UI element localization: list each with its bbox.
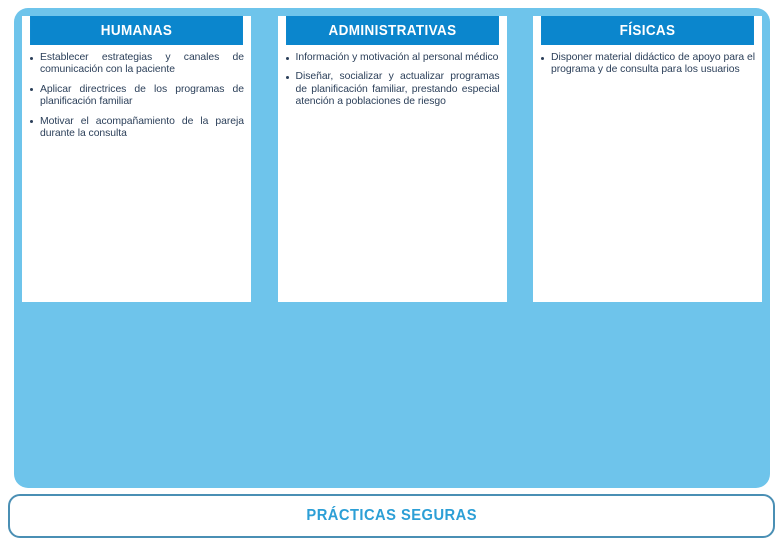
category-header-fisicas: FÍSICAS — [541, 16, 754, 45]
bullet-dot-icon — [30, 120, 33, 123]
bullet-list-humanas: Establecer estrategias y canales de comu… — [29, 52, 244, 140]
bullet-dot-icon — [30, 88, 33, 91]
category-card-administrativas: ADMINISTRATIVAS Información y motivación… — [278, 16, 507, 302]
footer-banner: PRÁCTICAS SEGURAS — [8, 494, 775, 538]
list-item: Información y motivación al personal méd… — [285, 52, 500, 64]
bullet-dot-icon — [286, 76, 289, 79]
list-item-text: Motivar el acompañamiento de la pareja d… — [40, 116, 244, 139]
list-item-text: Información y motivación al personal méd… — [296, 52, 499, 63]
bullet-list-fisicas: Disponer material didáctico de apoyo par… — [540, 52, 755, 77]
list-item-text: Disponer material didáctico de apoyo par… — [551, 52, 755, 75]
list-item: Disponer material didáctico de apoyo par… — [540, 52, 755, 77]
list-item: Establecer estrategias y canales de comu… — [29, 52, 244, 77]
category-card-humanas: HUMANAS Establecer estrategias y canales… — [22, 16, 251, 302]
footer-label: PRÁCTICAS SEGURAS — [306, 507, 477, 525]
list-item: Aplicar directrices de los programas de … — [29, 84, 244, 109]
bullet-list-administrativas: Información y motivación al personal méd… — [285, 52, 500, 109]
category-header-humanas: HUMANAS — [30, 16, 243, 45]
list-item-text: Diseñar, socializar y actualizar program… — [296, 71, 500, 107]
bullet-dot-icon — [286, 57, 289, 60]
bullet-dot-icon — [541, 57, 544, 60]
bullet-dot-icon — [30, 57, 33, 60]
list-item: Diseñar, socializar y actualizar program… — [285, 71, 500, 108]
list-item-text: Aplicar directrices de los programas de … — [40, 84, 244, 107]
category-card-fisicas: FÍSICAS Disponer material didáctico de a… — [533, 16, 762, 302]
category-body-administrativas: Información y motivación al personal méd… — [278, 45, 507, 302]
category-header-administrativas: ADMINISTRATIVAS — [286, 16, 499, 45]
list-item-text: Establecer estrategias y canales de comu… — [40, 52, 244, 75]
list-item: Motivar el acompañamiento de la pareja d… — [29, 116, 244, 141]
diagram-root: HUMANAS Establecer estrategias y canales… — [0, 0, 783, 542]
category-body-humanas: Establecer estrategias y canales de comu… — [22, 45, 251, 302]
category-body-fisicas: Disponer material didáctico de apoyo par… — [533, 45, 762, 302]
category-columns: HUMANAS Establecer estrategias y canales… — [14, 8, 770, 310]
